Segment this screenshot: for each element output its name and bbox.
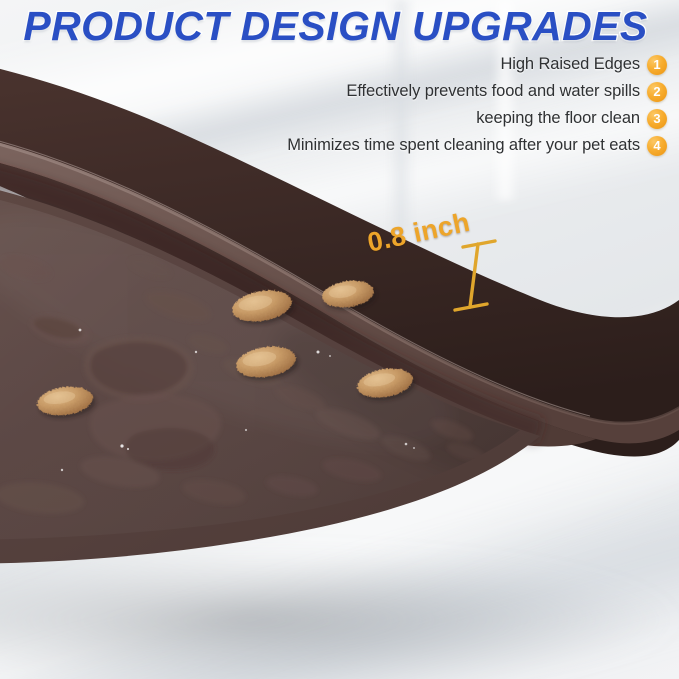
feature-list-item: Minimizes time spent cleaning after your…: [287, 133, 667, 158]
feature-label: keeping the floor clean: [476, 109, 640, 128]
page-title: PRODUCT DESIGN UPGRADES: [0, 4, 671, 50]
feature-number-badge: 4: [647, 136, 667, 156]
feature-number-badge: 1: [647, 55, 667, 75]
product-marketing-image: 0.8 inch PRODUCT DESIGN UPGRADES High Ra…: [0, 0, 679, 679]
feature-label: Effectively prevents food and water spil…: [346, 82, 640, 101]
feature-list-item: keeping the floor clean 3: [476, 106, 667, 131]
feature-list-item: Effectively prevents food and water spil…: [346, 79, 667, 104]
feature-label: Minimizes time spent cleaning after your…: [287, 136, 640, 155]
feature-number-badge: 3: [647, 109, 667, 129]
feature-number-badge: 2: [647, 82, 667, 102]
feature-list: High Raised Edges 1 Effectively prevents…: [287, 52, 667, 158]
feature-label: High Raised Edges: [500, 55, 640, 74]
feature-list-item: High Raised Edges 1: [500, 52, 667, 77]
